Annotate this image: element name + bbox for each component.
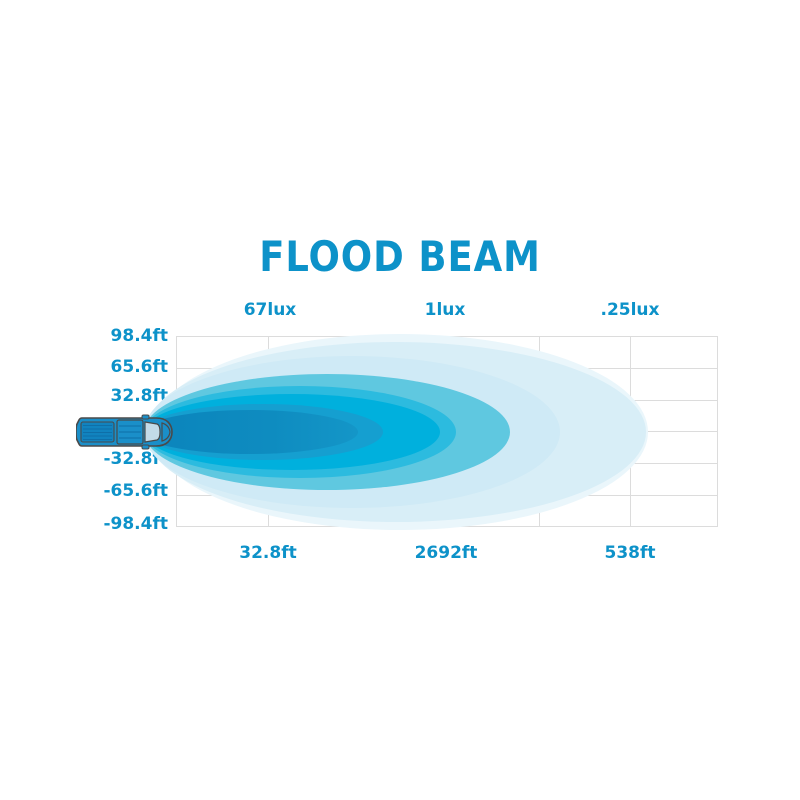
beam-pattern-diagram: FLOOD BEAM 67lux 1lux .25lux 98.4ft 65.6… [0, 0, 800, 800]
truck-mirror-bottom [142, 445, 149, 449]
beam-source-wedge [176, 398, 300, 466]
truck-mirror-top [142, 415, 149, 419]
beam-spread-graphic [0, 0, 800, 800]
vehicle-icon [76, 406, 174, 458]
truck-windshield [145, 422, 160, 442]
